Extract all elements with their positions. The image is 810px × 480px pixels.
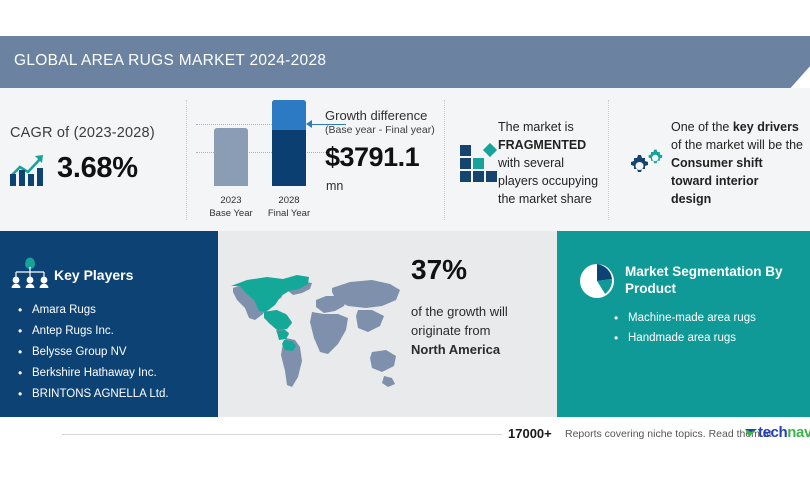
north-america-highlight: [231, 275, 309, 351]
drivers-bold-3: toward interior: [671, 174, 759, 188]
fragmented-bold: FRAGMENTED: [498, 138, 586, 152]
bar-base-year: [214, 128, 248, 186]
world-map: [228, 252, 404, 397]
people-network-icon: [10, 255, 50, 293]
cagr-label: CAGR of (2023-2028): [10, 125, 155, 141]
growth-difference-value: $3791.1: [325, 142, 419, 173]
fragmented-line-1: The market is: [498, 120, 574, 134]
fragmented-line-3: players occupying: [498, 174, 598, 188]
divider-2: [444, 100, 445, 220]
growth-difference-subtitle: (Base year - Final year): [325, 124, 435, 136]
drivers-line-1-pre: One of the: [671, 120, 733, 134]
bar-final-year: [272, 100, 306, 186]
region-highlight: North America: [411, 342, 500, 357]
growth-difference-title: Growth difference: [325, 108, 427, 123]
segmentation-title: Market Segmentation By Product: [625, 263, 800, 297]
list-item: Berkshire Hathaway Inc.: [16, 363, 169, 384]
logo-text-navi: navi: [787, 424, 810, 441]
bar-label-final: 2028 Final Year: [259, 194, 319, 220]
footer-text: Reports covering niche topics. Read them…: [565, 428, 772, 440]
footer-divider: [62, 434, 502, 435]
bar-year-base: 2023: [220, 195, 241, 206]
divider-1: [186, 100, 187, 220]
fragmented-line-2: with several: [498, 156, 564, 170]
bar-year-final: 2028: [278, 195, 299, 206]
infographic-root: GLOBAL AREA RUGS MARKET 2024-2028 CAGR o…: [0, 0, 810, 480]
drivers-line-2: of the market will be the: [671, 138, 803, 152]
list-item: BRINTONS AGNELLA Ltd.: [16, 384, 169, 405]
page-title: GLOBAL AREA RUGS MARKET 2024-2028: [14, 52, 326, 70]
technavio-arrow-icon: [744, 426, 758, 440]
logo-text-tech: tech: [758, 424, 787, 441]
bar-sublabel-base: Base Year: [209, 208, 252, 219]
cagr-value: 3.68%: [57, 152, 138, 185]
segmentation-list: Machine-made area rugs Handmade area rug…: [612, 308, 756, 348]
key-players-list: Amara Rugs Antep Rugs Inc. Belysse Group…: [16, 300, 169, 405]
region-line-1: of the growth will: [411, 304, 508, 319]
technavio-logo[interactable]: technavi: [744, 424, 810, 444]
region-growth-description: of the growth will originate from North …: [411, 302, 551, 359]
region-growth-percent: 37%: [411, 254, 467, 286]
list-item: Handmade area rugs: [612, 328, 756, 348]
drivers-bold-4: design: [671, 192, 711, 206]
region-line-2: originate from: [411, 323, 490, 338]
drivers-line-1-bold: key drivers: [733, 120, 799, 134]
footer: [0, 417, 810, 480]
bar-sublabel-final: Final Year: [268, 208, 310, 219]
report-count: 17000+: [508, 426, 552, 441]
fragmented-line-4: the market share: [498, 192, 592, 206]
drivers-bold-2: Consumer shift: [671, 156, 763, 170]
list-item: Amara Rugs: [16, 300, 169, 321]
pie-chart-icon: [578, 262, 616, 300]
bar-label-base: 2023 Base Year: [201, 194, 261, 220]
list-item: Antep Rugs Inc.: [16, 321, 169, 342]
list-item: Machine-made area rugs: [612, 308, 756, 328]
growth-bar-chart-icon: [8, 152, 50, 188]
gears-icon: [620, 148, 668, 186]
list-item: Belysse Group NV: [16, 342, 169, 363]
key-drivers-description: One of the key drivers of the market wil…: [671, 118, 810, 208]
key-players-title: Key Players: [54, 267, 133, 283]
growth-bar-chart: 2023 Base Year 2028 Final Year: [196, 100, 328, 220]
growth-difference-unit: mn: [326, 179, 343, 193]
callout-arrow-icon: [306, 120, 312, 128]
bar-growth-increment: [272, 100, 306, 130]
fragmented-description: The market is FRAGMENTED with several pl…: [498, 118, 618, 208]
